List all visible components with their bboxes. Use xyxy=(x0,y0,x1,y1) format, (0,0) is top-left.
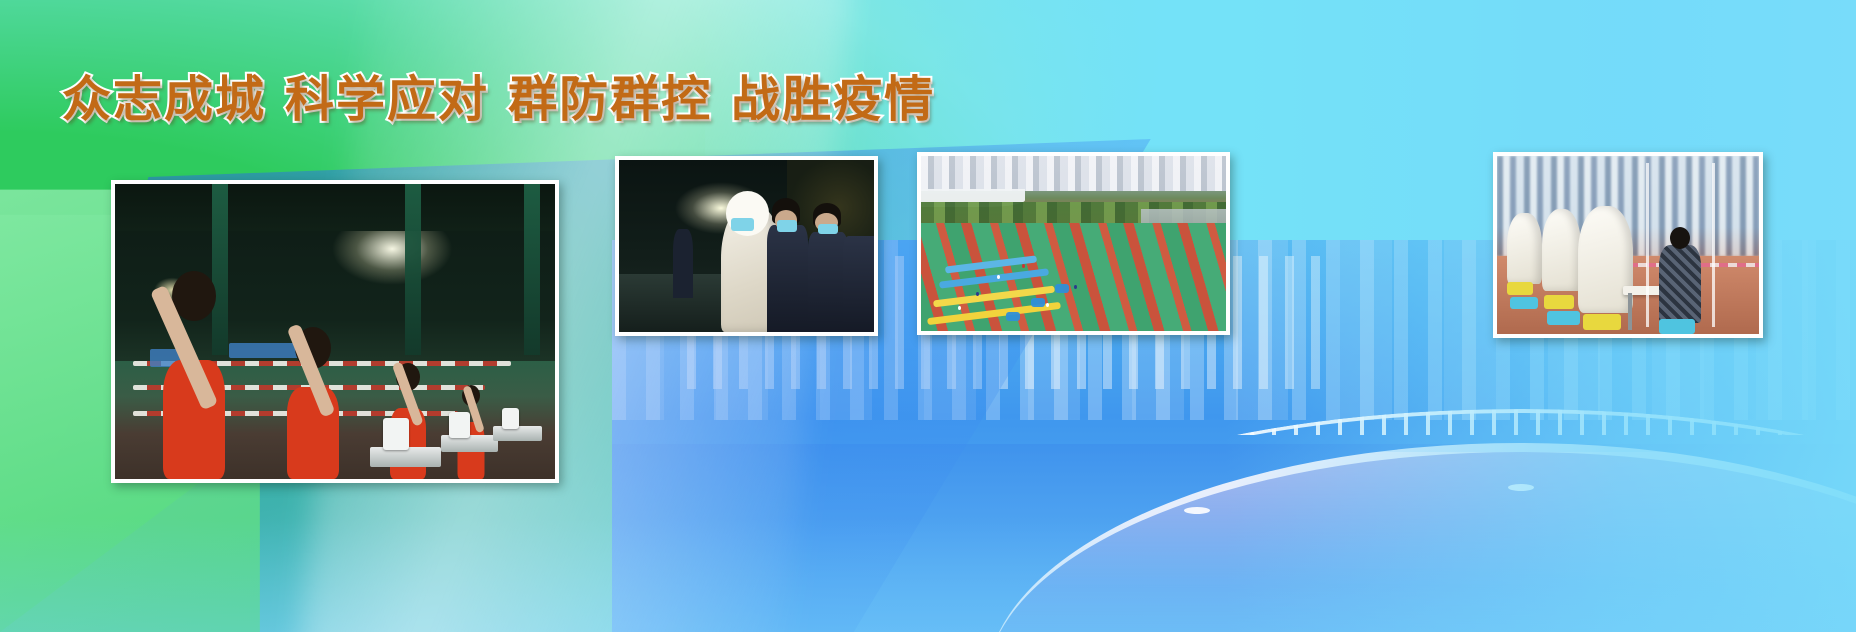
table-leg xyxy=(1628,293,1632,330)
resident-being-tested xyxy=(1659,245,1701,323)
testing-tent xyxy=(1055,284,1069,293)
photo-ppe-worker-officials-image xyxy=(619,160,874,332)
epidemic-prevention-banner: 众志成城 科学应对 群防群控 战胜疫情 xyxy=(0,0,1856,632)
canopy-beam xyxy=(115,184,555,231)
ppe-medical-worker xyxy=(1578,206,1633,313)
background-guard-figure xyxy=(673,229,693,298)
crowd-dot xyxy=(958,306,961,310)
photo-night-testing-site xyxy=(111,180,559,483)
monitor-screen xyxy=(383,418,409,450)
crowd-dot xyxy=(1046,303,1049,307)
monitor-screen xyxy=(502,408,519,429)
face-mask xyxy=(777,220,797,232)
plastic-stool-blue xyxy=(1510,297,1538,309)
monitor-screen xyxy=(449,412,470,438)
photo-swab-sampling-booth xyxy=(1493,152,1763,338)
banner-headline: 众志成城 科学应对 群防群控 战胜疫情 xyxy=(62,60,935,131)
plastic-stool-blue xyxy=(1547,311,1580,325)
face-mask xyxy=(731,218,754,230)
photo-night-testing-site-image xyxy=(115,184,555,479)
crowd-dot xyxy=(976,292,979,296)
volunteer-figure xyxy=(146,267,243,479)
sampling-desk xyxy=(441,435,498,453)
photo-swab-sampling-booth-image xyxy=(1497,156,1759,334)
plastic-stool-yellow xyxy=(1583,314,1621,330)
face-mask xyxy=(818,224,838,234)
crowd-dot xyxy=(1074,285,1077,289)
official-figure xyxy=(767,225,808,332)
plastic-stool-blue xyxy=(1659,319,1695,334)
city-skyline-background xyxy=(921,156,1226,191)
crowd-dot xyxy=(997,275,1000,279)
testing-tent xyxy=(1031,298,1045,307)
canopy-pillar xyxy=(405,184,421,355)
plastic-stool-yellow xyxy=(1544,295,1574,309)
photo-aerial-stadium-testing xyxy=(917,152,1230,335)
plastic-stool-yellow xyxy=(1507,282,1533,295)
tent-pole xyxy=(1712,163,1715,327)
testing-tent xyxy=(1006,312,1020,321)
tent-pole xyxy=(1646,163,1649,327)
photo-aerial-stadium-testing-image xyxy=(921,156,1226,331)
ppe-medical-worker xyxy=(1542,209,1581,291)
crowd-dot xyxy=(1022,264,1025,268)
volunteer-figure xyxy=(273,302,352,479)
sampling-desk xyxy=(370,447,440,468)
canopy-pillar xyxy=(524,184,540,355)
volunteer-head xyxy=(172,271,216,321)
background-bottom-fade xyxy=(0,518,1856,632)
official-figure xyxy=(808,232,849,332)
official-figure xyxy=(843,236,874,332)
ppe-medical-worker xyxy=(1507,213,1541,284)
photo-ppe-worker-officials xyxy=(615,156,878,336)
resident-head xyxy=(1670,227,1690,249)
